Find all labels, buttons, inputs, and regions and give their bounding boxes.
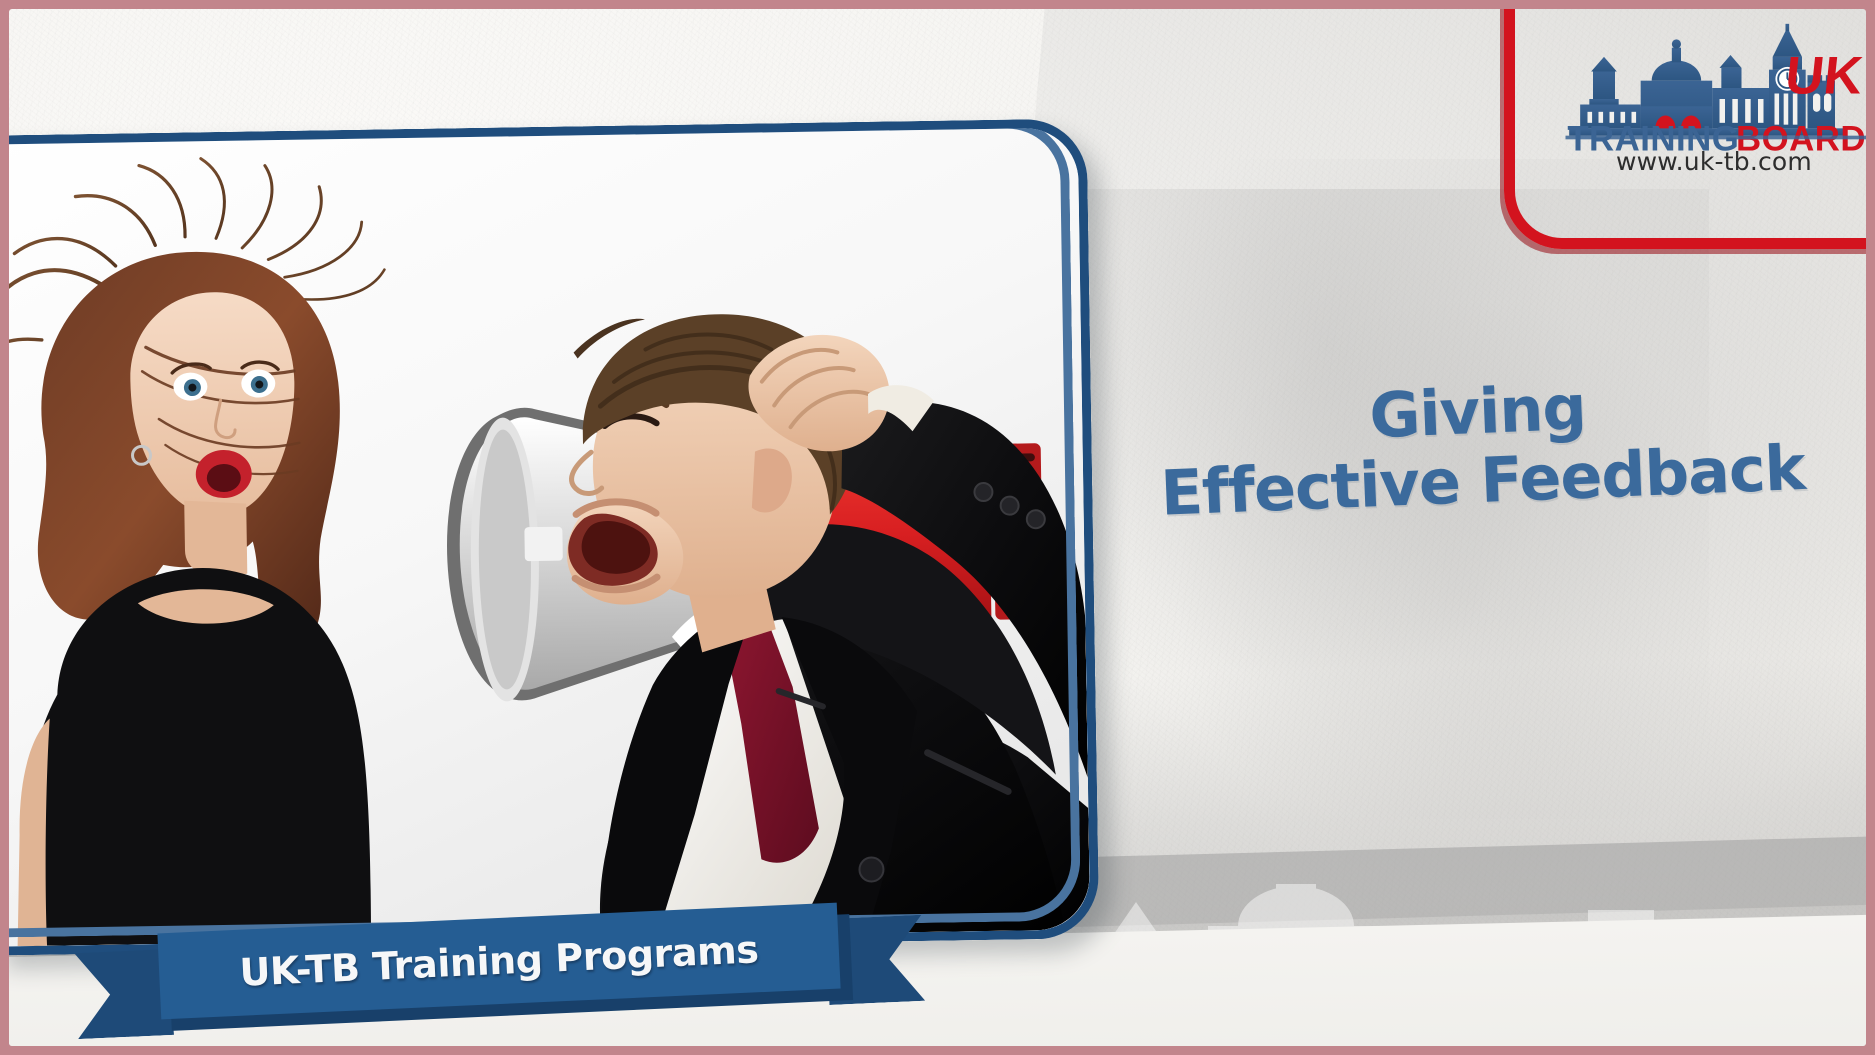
photo-image <box>9 127 1090 946</box>
ribbon-label: UK-TB Training Programs <box>239 927 760 995</box>
photo-card-border <box>9 118 1099 955</box>
skyline-watermark <box>976 840 1856 1046</box>
brand-logo[interactable]: UK TRAINING BOARD www.uk-tb.com <box>1549 23 1866 193</box>
photo-card <box>9 118 1099 955</box>
page-title: Giving Effective Feedback <box>1156 364 1801 528</box>
poster-outer-frame: Giving Effective Feedback <box>0 0 1875 1055</box>
uk-training-board-logo-icon: UK TRAINING BOARD <box>1549 23 1866 153</box>
svg-text:UK: UK <box>1783 47 1866 106</box>
background-photo-ghost <box>1069 189 1709 889</box>
poster-canvas: Giving Effective Feedback <box>9 9 1866 1046</box>
